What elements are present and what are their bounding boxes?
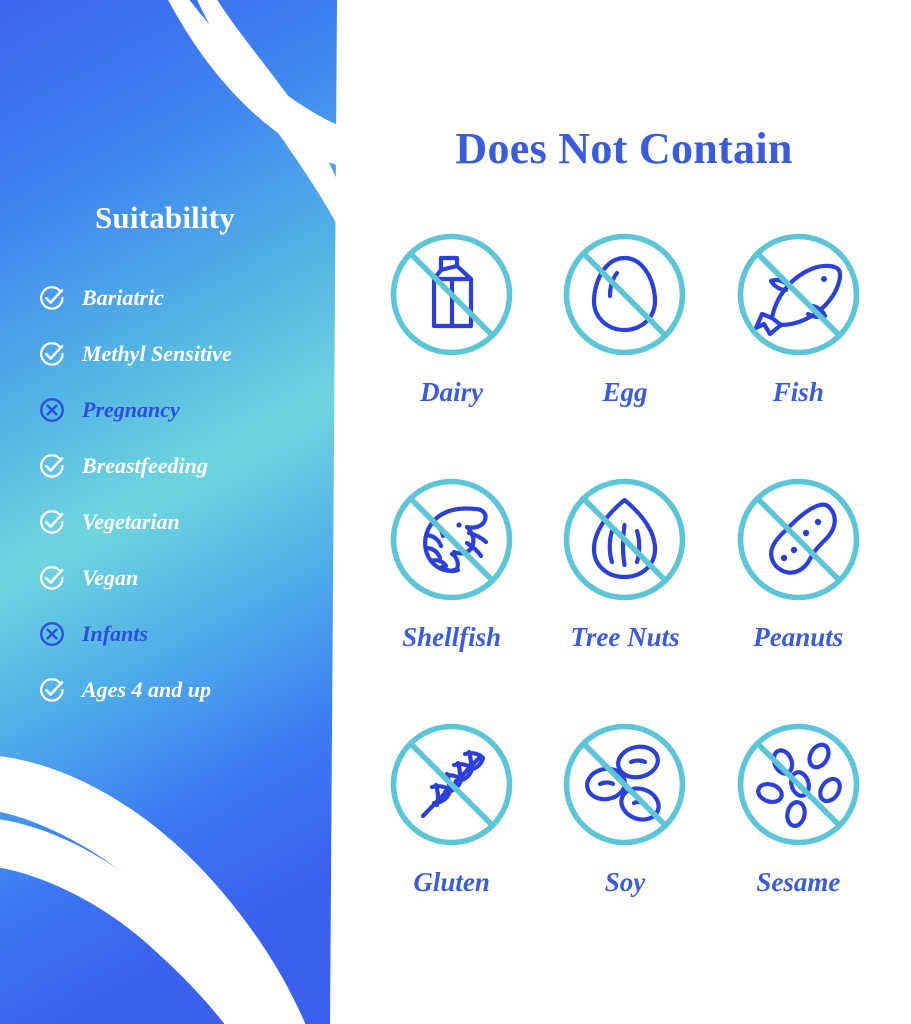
allergen-item: Egg	[538, 222, 711, 467]
no-sesame-icon	[726, 712, 871, 857]
suitability-panel: Suitability Bariatric Methyl Sensitive P…	[0, 0, 337, 1024]
suitability-row: Infants	[38, 606, 328, 662]
suitability-row: Breastfeeding	[38, 438, 328, 494]
suitability-label: Pregnancy	[82, 399, 180, 421]
allergen-grid: Dairy Egg Fish	[365, 222, 885, 957]
allergen-item: Gluten	[365, 712, 538, 957]
allergen-label: Shellfish	[402, 624, 501, 651]
suitability-row: Methyl Sensitive	[38, 326, 328, 382]
no-soy-icon	[552, 712, 697, 857]
check-circle-icon	[38, 676, 66, 704]
allergen-item: Shellfish	[365, 467, 538, 712]
allergen-item: Peanuts	[712, 467, 885, 712]
allergen-label: Sesame	[756, 869, 840, 896]
no-egg-icon	[552, 222, 697, 367]
allergen-label: Fish	[773, 379, 824, 406]
does-not-contain-heading: Does Not Contain	[337, 123, 911, 174]
no-fish-icon	[726, 222, 871, 367]
does-not-contain-panel: Does Not Contain Dairy Egg	[337, 0, 911, 1024]
allergen-label: Soy	[605, 869, 646, 896]
suitability-row: Pregnancy	[38, 382, 328, 438]
check-circle-icon	[38, 340, 66, 368]
check-circle-icon	[38, 564, 66, 592]
suitability-label: Infants	[82, 623, 148, 645]
suitability-heading: Suitability	[0, 200, 330, 236]
allergen-item: Fish	[712, 222, 885, 467]
suitability-row: Bariatric	[38, 270, 328, 326]
no-shellfish-icon	[379, 467, 524, 612]
x-circle-icon	[38, 620, 66, 648]
suitability-label: Ages 4 and up	[82, 679, 211, 701]
suitability-label: Vegan	[82, 567, 138, 589]
no-dairy-icon	[379, 222, 524, 367]
allergen-label: Peanuts	[753, 624, 843, 651]
check-circle-icon	[38, 508, 66, 536]
no-tree-nuts-icon	[552, 467, 697, 612]
x-circle-icon	[38, 396, 66, 424]
suitability-label: Breastfeeding	[82, 455, 208, 477]
allergen-item: Dairy	[365, 222, 538, 467]
check-circle-icon	[38, 284, 66, 312]
allergen-item: Tree Nuts	[538, 467, 711, 712]
suitability-label: Vegetarian	[82, 511, 180, 533]
suitability-label: Methyl Sensitive	[82, 343, 232, 365]
suitability-list: Bariatric Methyl Sensitive Pregnancy Bre…	[38, 270, 328, 718]
suitability-label: Bariatric	[82, 287, 164, 309]
allergen-label: Gluten	[413, 869, 490, 896]
allergen-label: Tree Nuts	[570, 624, 679, 651]
allergen-label: Egg	[602, 379, 647, 406]
suitability-row: Vegetarian	[38, 494, 328, 550]
suitability-row: Ages 4 and up	[38, 662, 328, 718]
allergen-item: Soy	[538, 712, 711, 957]
no-peanuts-icon	[726, 467, 871, 612]
suitability-row: Vegan	[38, 550, 328, 606]
allergen-item: Sesame	[712, 712, 885, 957]
allergen-label: Dairy	[420, 379, 483, 406]
no-gluten-icon	[379, 712, 524, 857]
check-circle-icon	[38, 452, 66, 480]
